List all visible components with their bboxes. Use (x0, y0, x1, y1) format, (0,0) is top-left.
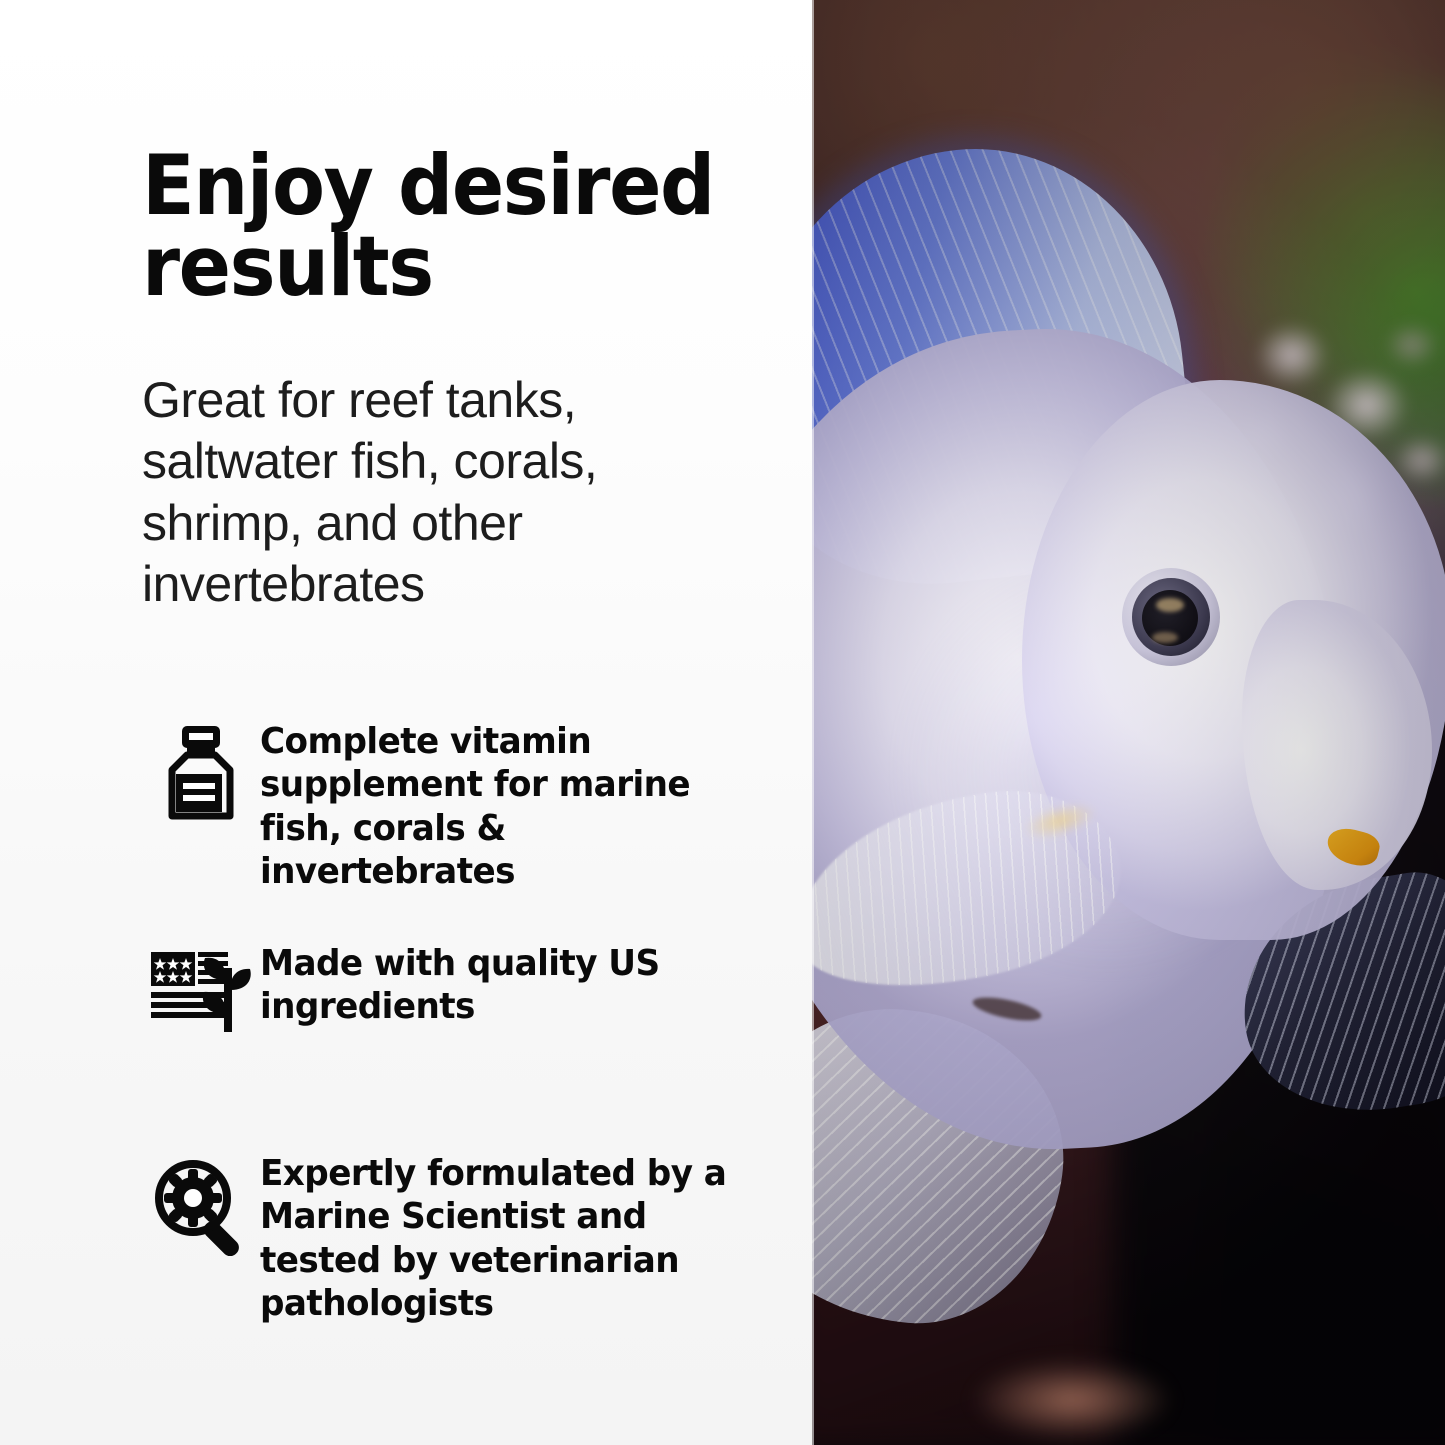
product-lifestyle-photo (812, 0, 1445, 1445)
list-item: Expertly formulated by a Marine Scientis… (142, 1152, 812, 1326)
feature-list: Complete vitamin supplement for marine f… (142, 720, 812, 1326)
fish-eye-highlight (1156, 598, 1184, 612)
feature-text: Made with quality US ingredients (260, 942, 735, 1029)
page-title: Enjoy desired results (142, 145, 742, 308)
subheading-description: Great for reef tanks, saltwater fish, co… (142, 370, 742, 616)
feature-text: Expertly formulated by a Marine Scientis… (260, 1152, 735, 1326)
feature-text: Complete vitamin supplement for marine f… (260, 720, 735, 894)
usa-flag-plant-icon (142, 942, 260, 1046)
magnifier-microbe-icon (142, 1152, 260, 1256)
product-feature-card: Enjoy desired results Great for reef tan… (0, 0, 1445, 1445)
list-item: Made with quality US ingredients (142, 942, 812, 1046)
panel-divider (812, 0, 814, 1445)
left-content-panel: Enjoy desired results Great for reef tan… (0, 0, 812, 1445)
supplement-bottle-icon (142, 720, 260, 824)
list-item: Complete vitamin supplement for marine f… (142, 720, 812, 894)
bottom-coral (922, 1330, 1252, 1445)
fish-eye-highlight-lower (1152, 632, 1178, 643)
